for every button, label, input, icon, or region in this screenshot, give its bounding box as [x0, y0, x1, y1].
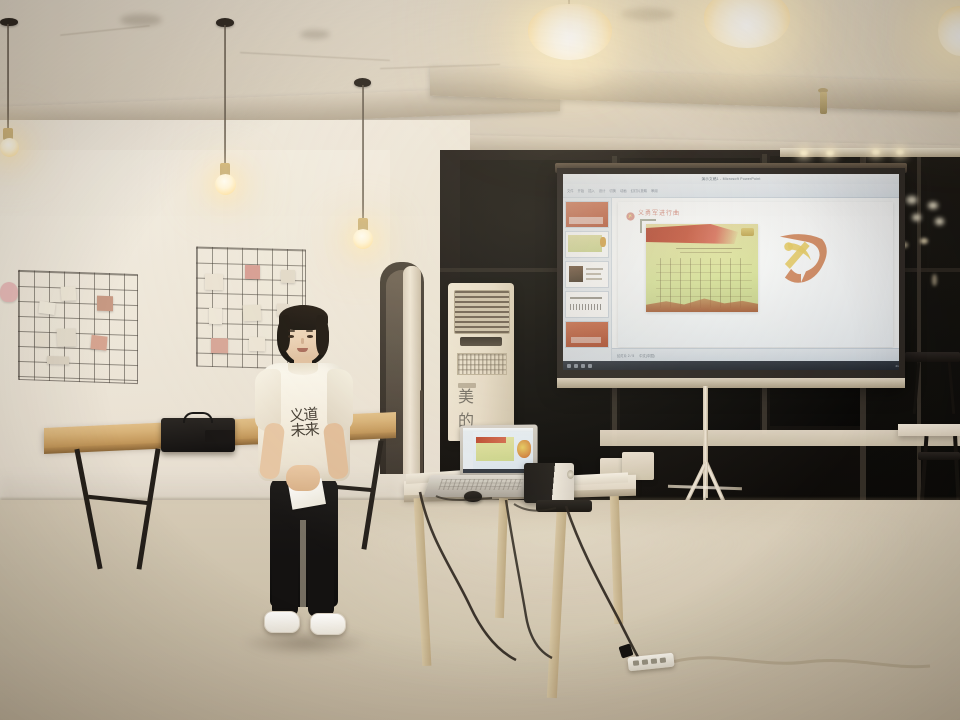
mouse[interactable]	[464, 491, 482, 502]
wall-grid-left	[18, 270, 138, 384]
laptop-keyboard[interactable]	[438, 479, 524, 490]
powerpoint-body: 义勇军进行曲	[563, 198, 899, 361]
background-chair-seat	[905, 352, 960, 362]
pendant-bulb-2	[353, 229, 373, 249]
ribbon-tab[interactable]: 设计	[599, 188, 606, 193]
start-icon[interactable]	[567, 364, 571, 368]
ribbon-tab[interactable]: 审阅	[651, 188, 658, 193]
window-reflection-light-4	[935, 218, 944, 225]
bag-side-pocket	[205, 430, 235, 442]
ribbon-tab[interactable]: 动画	[620, 188, 627, 193]
grid-note	[209, 308, 222, 324]
pendant-canopy-0	[0, 18, 18, 26]
pendant-cord-1	[224, 25, 226, 165]
slide-thumbnail[interactable]	[565, 261, 609, 288]
grid-note	[245, 265, 260, 279]
ac-brand-logo: 美的	[458, 383, 476, 388]
eyebrow-left	[288, 330, 295, 332]
powerpoint-status-bar: 幻灯片 2 / 5 中文(中国)	[612, 348, 899, 361]
pants-leg-gap	[300, 520, 306, 608]
pendant-cord-0	[7, 24, 9, 130]
ceiling-stain-2	[300, 30, 330, 39]
tshirt-sleeve-right	[327, 369, 353, 431]
photo-scene: 美的 演示文稿1 - Microsoft PowerPoint 文件 开始 插入…	[0, 0, 960, 720]
ribbon-tab[interactable]: 文件	[567, 188, 574, 193]
track-spot-body	[820, 92, 827, 114]
pendant-bulb-0	[0, 138, 19, 157]
hair-right-side	[316, 315, 329, 355]
powerpoint-title-bar: 演示文稿1 - Microsoft PowerPoint	[563, 174, 899, 184]
red-flag-graphic	[646, 224, 738, 244]
window-reflection-light-1	[906, 196, 917, 204]
ac-control-panel[interactable]	[460, 337, 502, 346]
window-reflection-light-2	[928, 202, 938, 209]
ac-front-grille	[457, 353, 507, 375]
slide-thumbnail[interactable]	[565, 321, 609, 348]
right-table-upper	[898, 424, 960, 436]
slide-counter: 幻灯片 2 / 5	[617, 353, 634, 358]
hair-left-side	[278, 315, 290, 351]
grid-note	[205, 274, 223, 290]
explorer-icon[interactable]	[574, 364, 578, 368]
projector-lens	[567, 470, 574, 479]
window-reflection-light-7	[932, 274, 937, 286]
grid-note	[38, 301, 55, 315]
grid-note	[281, 270, 295, 283]
floor-light-reflection	[300, 520, 960, 720]
projection-screen: 演示文稿1 - Microsoft PowerPoint 文件 开始 插入 设计…	[563, 174, 899, 370]
slide-title-group: 义勇军进行曲	[626, 208, 680, 217]
slide-thumbnail[interactable]	[565, 291, 609, 318]
window-reflection-light-3	[912, 214, 921, 221]
doorway-jamb	[403, 266, 421, 474]
grid-note	[61, 286, 77, 301]
slide-thumbnail[interactable]	[565, 231, 609, 258]
ac-vent-slats	[454, 290, 510, 334]
taskbar-clock[interactable]: 21:43	[895, 364, 899, 368]
ribbon-tab[interactable]: 幻灯片放映	[631, 188, 647, 193]
grid-note	[57, 328, 77, 346]
wall-decor-pink	[0, 282, 18, 302]
grid-note	[35, 333, 49, 346]
pendant-bulb-1	[215, 174, 236, 195]
pendant-bulb-3	[528, 4, 612, 60]
left-leg	[272, 555, 298, 617]
powerpoint-window: 演示文稿1 - Microsoft PowerPoint 文件 开始 插入 设计…	[563, 174, 899, 370]
grid-note	[211, 338, 228, 353]
slide-document-image	[646, 224, 758, 312]
slide-thumbnail-pane[interactable]	[563, 198, 612, 361]
eye-left	[288, 335, 294, 338]
tshirt-calligraphy-text: 义道未来	[284, 392, 324, 454]
grid-note	[97, 296, 113, 312]
slide-thumbnail[interactable]	[565, 201, 609, 228]
ribbon-tab[interactable]: 切换	[609, 188, 616, 193]
current-slide: 义勇军进行曲	[618, 202, 893, 347]
pendant-cord-2	[362, 85, 364, 220]
right-chair-seat	[918, 452, 960, 460]
right-leg	[308, 555, 334, 617]
laptop-screen[interactable]	[463, 428, 533, 473]
ribbon-tab[interactable]: 插入	[588, 188, 595, 193]
eye-right	[307, 335, 313, 338]
nose	[301, 338, 304, 344]
projector	[524, 463, 574, 503]
powerpoint-taskbar-icon[interactable]	[588, 364, 592, 368]
tshirt-sleeve-left	[255, 369, 281, 431]
projector-base-plate	[536, 500, 592, 512]
clasped-hands	[286, 465, 320, 491]
tshirt-collar	[288, 363, 318, 375]
party-emblem-large	[770, 230, 832, 288]
grid-note	[47, 356, 69, 365]
eyebrow-right	[306, 330, 313, 332]
windows-taskbar[interactable]: 21:43	[563, 361, 899, 370]
party-emblem-icon	[626, 208, 635, 217]
right-sneaker	[310, 613, 346, 635]
left-sneaker	[264, 611, 300, 633]
rail-spot-2	[826, 150, 834, 156]
rail-spot-1	[800, 150, 808, 156]
screen-bottom-bar	[557, 378, 905, 388]
ribbon-tab[interactable]: 开始	[578, 188, 585, 193]
browser-icon[interactable]	[581, 364, 585, 368]
ceiling-stain-1	[120, 14, 162, 26]
document-seal	[741, 228, 754, 236]
slide-editing-stage[interactable]: 义勇军进行曲	[612, 198, 899, 361]
slide-title-text: 义勇军进行曲	[638, 208, 680, 217]
rail-spot-4	[896, 149, 904, 155]
language-indicator: 中文(中国)	[639, 353, 654, 358]
bag-handle	[183, 412, 213, 423]
presenter: 义道未来	[252, 305, 356, 650]
window-mullion-4	[917, 152, 921, 534]
taskbar-icons[interactable]	[567, 364, 592, 368]
powerpoint-ribbon[interactable]: 文件 开始 插入 设计 切换 动画 幻灯片放映 审阅	[563, 184, 899, 198]
rail-spot-3	[872, 149, 880, 155]
air-conditioner: 美的	[448, 283, 514, 441]
grid-note	[90, 335, 107, 351]
wall-cable	[420, 390, 423, 476]
window-reflection-light-5	[920, 238, 928, 244]
